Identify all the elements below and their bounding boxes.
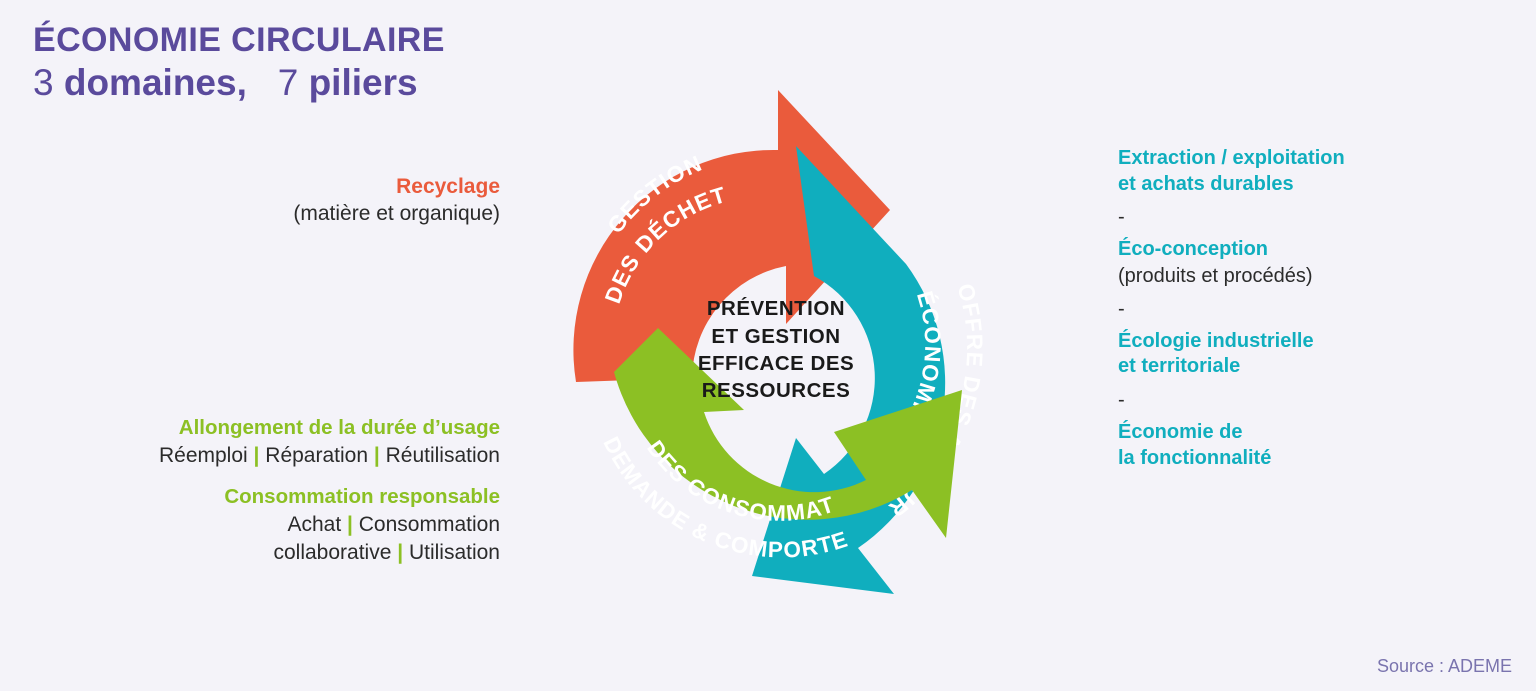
separator-pipe: | [374, 444, 380, 467]
item-reemploi: Réemploi [159, 444, 248, 467]
pillar-consommation-items: Achat | Consommation collaborative | Uti… [0, 511, 500, 566]
pillar-consommation: Consommation responsable Achat | Consomm… [0, 484, 500, 566]
pillars-count: 7 [278, 62, 299, 103]
pillars-label: piliers [309, 62, 418, 103]
pillar-ecologie-heading-2: et territoriale [1118, 354, 1518, 380]
separator-pipe: | [347, 513, 353, 536]
item-achat: Achat [287, 513, 341, 536]
pillar-ecologie-heading-1: Écologie industrielle [1118, 329, 1518, 355]
infographic-canvas: ÉCONOMIE CIRCULAIRE 3 domaines, 7 pilier… [0, 0, 1536, 691]
pillar-recyclage: Recyclage (matière et organique) [80, 174, 500, 228]
domains-label: domaines, [64, 62, 247, 103]
pillar-allongement: Allongement de la durée d’usage Réemploi… [0, 415, 500, 469]
circular-economy-diagram: GESTION x DES DÉCHETS OFFRE DES ACTEURS … [486, 60, 1066, 640]
pillar-fonctionnalite-heading-2: la fonctionnalité [1118, 446, 1518, 472]
pillar-extraction: Extraction / exploitation et achats dura… [1118, 146, 1518, 197]
title-subtitle: 3 domaines, 7 piliers [33, 61, 445, 105]
pillar-recyclage-subtitle: (matière et organique) [80, 200, 500, 227]
pillar-ecoconception-heading: Éco-conception [1118, 237, 1518, 263]
source-attribution: Source : ADEME [1377, 656, 1512, 677]
separator-pipe: | [254, 444, 260, 467]
pillar-consommation-heading: Consommation responsable [0, 484, 500, 511]
pillar-separator-dash: - [1118, 206, 1518, 228]
domains-count: 3 [33, 62, 54, 103]
pillar-economie-fonctionnalite: Économie de la fonctionnalité [1118, 420, 1518, 471]
pillar-extraction-heading-1: Extraction / exploitation [1118, 146, 1518, 172]
item-consommation-collaborative-1: Consommation [359, 513, 500, 536]
pillar-separator-dash: - [1118, 298, 1518, 320]
pillar-recyclage-heading: Recyclage [80, 174, 500, 200]
pillar-ecoconception-subtitle: (produits et procédés) [1118, 263, 1518, 289]
title-main: ÉCONOMIE CIRCULAIRE [33, 22, 445, 59]
page-title: ÉCONOMIE CIRCULAIRE 3 domaines, 7 pilier… [33, 22, 445, 104]
pillar-separator-dash: - [1118, 389, 1518, 411]
pillar-allongement-heading: Allongement de la durée d’usage [0, 415, 500, 442]
teal-pillars-group: Extraction / exploitation et achats dura… [1118, 146, 1518, 471]
item-reutilisation: Réutilisation [386, 444, 500, 467]
pillar-ecoconception: Éco-conception (produits et procédés) [1118, 237, 1518, 289]
pillar-allongement-items: Réemploi | Réparation | Réutilisation [0, 442, 500, 470]
pillar-ecologie-industrielle: Écologie industrielle et territoriale [1118, 329, 1518, 380]
item-reparation: Réparation [265, 444, 368, 467]
green-pillars-group: Allongement de la durée d’usage Réemploi… [0, 415, 500, 566]
pillar-fonctionnalite-heading-1: Économie de [1118, 420, 1518, 446]
separator-pipe: | [397, 541, 403, 564]
pillar-extraction-heading-2: et achats durables [1118, 172, 1518, 198]
item-consommation-collaborative-2: collaborative [273, 541, 391, 564]
